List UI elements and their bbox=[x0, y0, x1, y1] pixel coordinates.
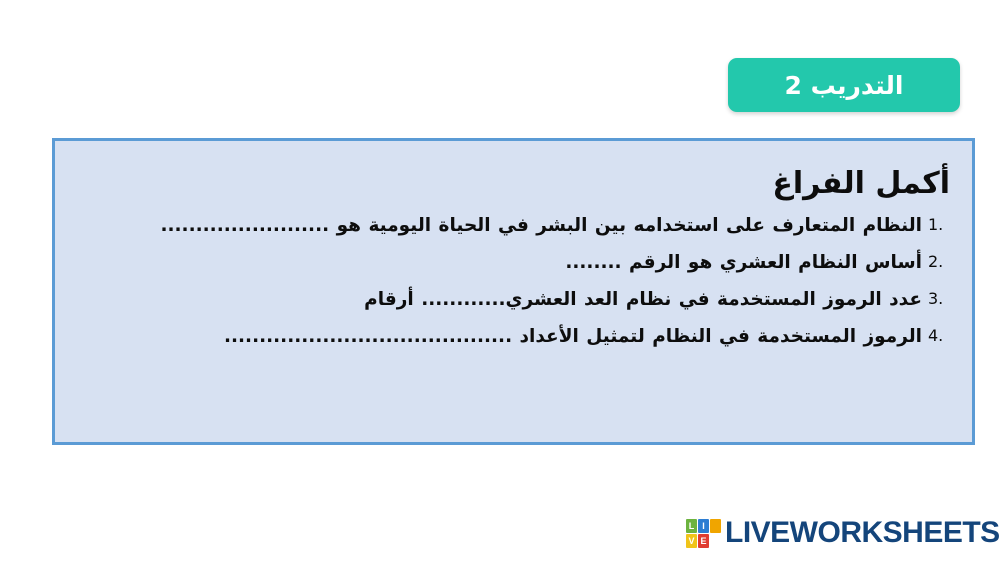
logo-tile-blank bbox=[710, 534, 721, 548]
exercise-box: أكمل الفراغ 1. النظام المتعارف على استخد… bbox=[52, 138, 975, 445]
liveworksheets-logo: L I V E LIVEWORKSHEETS bbox=[686, 518, 999, 548]
logo-tile-i: I bbox=[698, 519, 709, 533]
question-item: 2. أساس النظام العشري هو الرقم ........ bbox=[69, 251, 958, 276]
question-text: عدد الرموز المستخدمة في نظام العد العشري… bbox=[69, 288, 922, 313]
question-number: 2. bbox=[922, 251, 958, 273]
liveworksheets-wordmark: LIVEWORKSHEETS bbox=[725, 518, 999, 548]
question-number: 4. bbox=[922, 325, 958, 347]
question-text: أساس النظام العشري هو الرقم ........ bbox=[69, 251, 922, 276]
logo-tile-v: V bbox=[686, 534, 697, 548]
logo-tile-l: L bbox=[686, 519, 697, 533]
worksheet-page: التدريب 2 أكمل الفراغ 1. النظام المتعارف… bbox=[0, 0, 999, 562]
exercise-badge: التدريب 2 bbox=[728, 58, 960, 112]
logo-tile-accent bbox=[710, 519, 721, 533]
exercise-badge-label: التدريب 2 bbox=[785, 73, 904, 98]
question-item: 1. النظام المتعارف على استخدامه بين البش… bbox=[69, 214, 958, 239]
question-text: النظام المتعارف على استخدامه بين البشر ف… bbox=[69, 214, 922, 239]
exercise-title: أكمل الفراغ bbox=[77, 167, 950, 200]
question-text: الرموز المستخدمة في النظام لتمثيل الأعدا… bbox=[69, 325, 922, 350]
question-number: 3. bbox=[922, 288, 958, 310]
question-number: 1. bbox=[922, 214, 958, 236]
logo-tile-e: E bbox=[698, 534, 709, 548]
question-item: 3. عدد الرموز المستخدمة في نظام العد الع… bbox=[69, 288, 958, 313]
question-item: 4. الرموز المستخدمة في النظام لتمثيل الأ… bbox=[69, 325, 958, 350]
liveworksheets-tiles-icon: L I V E bbox=[686, 519, 721, 548]
question-list: 1. النظام المتعارف على استخدامه بين البش… bbox=[55, 214, 972, 350]
